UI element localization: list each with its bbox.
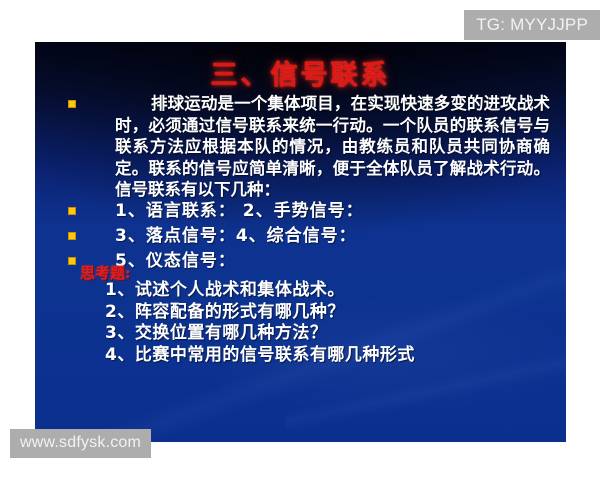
telegram-watermark: TG: MYYJJPP xyxy=(464,10,600,40)
question-item: 4、比赛中常用的信号联系有哪几种形式 xyxy=(105,345,556,367)
square-bullet-icon xyxy=(68,232,76,240)
think-questions-heading: 思考题: xyxy=(80,262,131,283)
intro-paragraph: 排球运动是一个集体项目，在实现快速多变的进攻战术时，必须通过信号联系来统一行动。… xyxy=(115,93,550,201)
slide-title: 三、信号联系 xyxy=(35,53,566,92)
signal-list-item: 3、落点信号：4、综合信号： xyxy=(115,225,550,247)
square-bullet-icon xyxy=(68,257,76,265)
question-item: 1、试述个人战术和集体战术。 xyxy=(105,280,556,302)
slide-content: 三、信号联系 排球运动是一个集体项目，在实现快速多变的进攻战术时，必须通过信号联… xyxy=(35,42,566,442)
square-bullet-icon xyxy=(68,207,76,215)
question-item: 2、阵容配备的形式有哪几种？ xyxy=(105,302,556,324)
presentation-slide: 三、信号联系 排球运动是一个集体项目，在实现快速多变的进攻战术时，必须通过信号联… xyxy=(35,42,566,442)
question-item: 3、交换位置有哪几种方法？ xyxy=(105,323,556,345)
site-watermark: www.sdfysk.com xyxy=(10,429,151,458)
signal-list-item: 1、语言联系： 2、手势信号： xyxy=(115,200,550,222)
signal-list-item: 5、仪态信号： xyxy=(115,250,550,272)
questions-list: 1、试述个人战术和集体战术。 2、阵容配备的形式有哪几种？ 3、交换位置有哪几种… xyxy=(105,280,556,366)
square-bullet-icon xyxy=(68,100,76,108)
